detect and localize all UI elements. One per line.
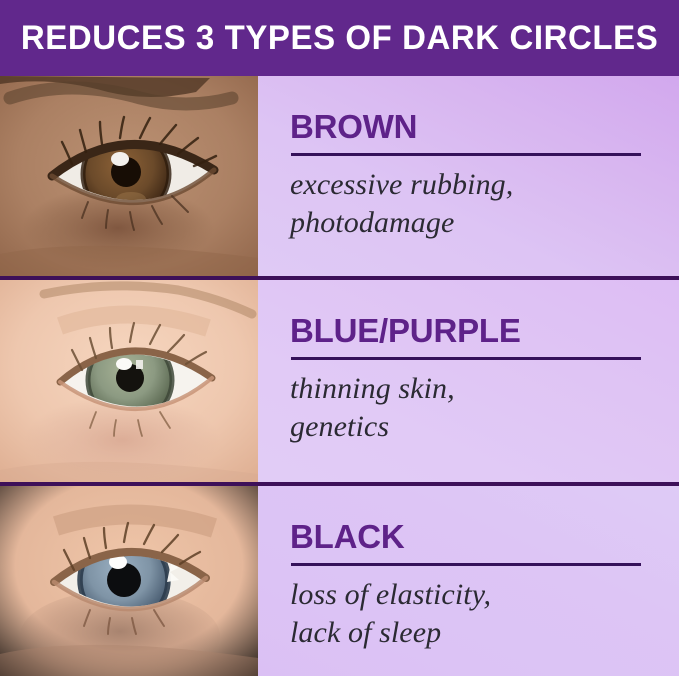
eye-photo-black <box>0 486 258 676</box>
panel-blue-purple: BLUE/PURPLE thinning skin, genetics <box>258 280 679 482</box>
description-line-2: photodamage <box>290 204 647 242</box>
panel-content-blue-purple: BLUE/PURPLE thinning skin, genetics <box>290 280 641 482</box>
eye-illustration-blue-grey <box>0 486 258 676</box>
eye-photo-brown <box>0 76 258 276</box>
description-line-1: thinning skin, <box>290 370 647 408</box>
category-rule-black <box>291 563 641 566</box>
description-line-1: loss of elasticity, <box>290 576 647 614</box>
infographic-root: REDUCES 3 TYPES OF DARK CIRCLES <box>0 0 679 676</box>
header-bar: REDUCES 3 TYPES OF DARK CIRCLES <box>0 0 679 76</box>
panel-brown: BROWN excessive rubbing, photodamage <box>258 76 679 276</box>
category-title-black: BLACK <box>290 520 404 553</box>
panel-content-brown: BROWN excessive rubbing, photodamage <box>290 76 641 276</box>
row-divider-2 <box>0 482 679 486</box>
description-line-2: genetics <box>290 408 647 446</box>
row-brown: BROWN excessive rubbing, photodamage <box>0 76 679 276</box>
panel-black: BLACK loss of elasticity, lack of sleep <box>258 486 679 676</box>
panel-content-black: BLACK loss of elasticity, lack of sleep <box>290 486 641 676</box>
row-black: BLACK loss of elasticity, lack of sleep <box>0 486 679 676</box>
eye-illustration-brown <box>0 76 258 276</box>
eye-photo-blue-purple <box>0 280 258 482</box>
row-divider-1 <box>0 276 679 280</box>
category-rule-brown <box>291 153 641 156</box>
category-description-blue-purple: thinning skin, genetics <box>290 370 647 447</box>
category-description-brown: excessive rubbing, photodamage <box>290 166 647 243</box>
description-line-1: excessive rubbing, <box>290 166 647 204</box>
category-title-blue-purple: BLUE/PURPLE <box>290 314 521 347</box>
category-rule-blue-purple <box>291 357 641 360</box>
category-title-brown: BROWN <box>290 110 417 143</box>
category-description-black: loss of elasticity, lack of sleep <box>290 576 647 653</box>
row-blue-purple: BLUE/PURPLE thinning skin, genetics <box>0 280 679 482</box>
page-title: REDUCES 3 TYPES OF DARK CIRCLES <box>21 21 658 55</box>
description-line-2: lack of sleep <box>290 614 647 652</box>
rows-container: BROWN excessive rubbing, photodamage <box>0 76 679 676</box>
eye-illustration-green <box>0 280 258 482</box>
